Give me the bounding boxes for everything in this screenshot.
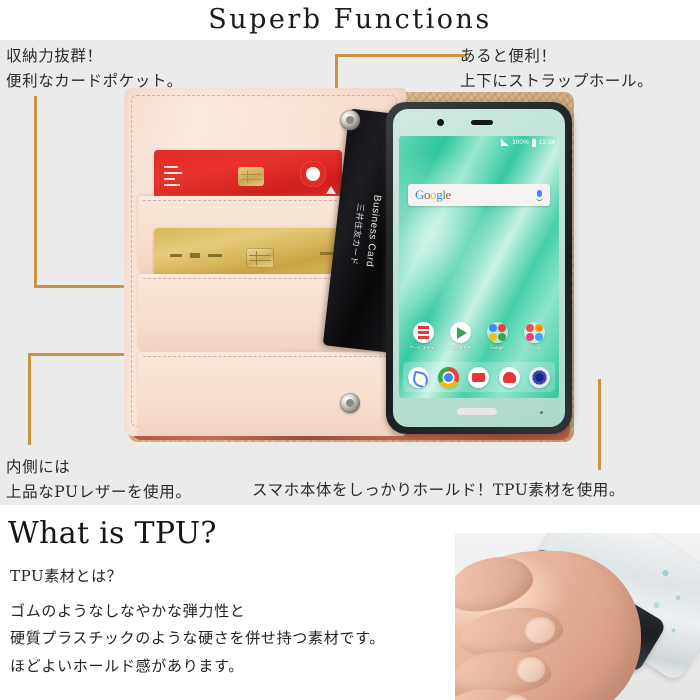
docomo-icon[interactable] xyxy=(413,322,434,343)
google-logo: Google xyxy=(415,187,451,203)
strap-hole-eyelet-top xyxy=(340,110,360,130)
phone-in-case: 100% 12:34 Google サービスチャンネル xyxy=(386,102,572,434)
tools-mini-icon-3 xyxy=(526,333,534,341)
app-tools-folder[interactable]: ツール xyxy=(521,322,549,351)
sensor-dot-icon xyxy=(540,411,543,414)
leader-line-card-pocket-vertical xyxy=(34,96,37,288)
infographic-page: Superb Functions 収納力抜群！ 便利なカードポケット。 あると便… xyxy=(0,0,700,700)
microphone-icon[interactable] xyxy=(536,190,543,201)
wallet-left-leaf: Business Card 三井住友カード xyxy=(124,88,406,436)
leader-line-pu-leather-vertical xyxy=(28,353,31,445)
folder-mini-icon-1 xyxy=(489,324,497,332)
tools-mini-icon-4 xyxy=(535,333,543,341)
app-google-folder[interactable]: Google xyxy=(484,322,512,350)
signal-icon xyxy=(501,139,509,146)
leader-line-tpu-hold-vertical xyxy=(598,379,601,470)
leader-line-strap-hole-horizontal xyxy=(335,54,465,57)
tools-folder-icon[interactable] xyxy=(524,322,545,343)
app-play-store[interactable]: Playストア xyxy=(447,322,475,351)
app-play-store-label: Playストア xyxy=(447,345,475,351)
messages-icon[interactable] xyxy=(468,367,489,388)
card-gold-chip-icon xyxy=(246,248,274,268)
play-store-icon[interactable] xyxy=(450,322,471,343)
folder-mini-icon-3 xyxy=(489,333,497,341)
phone-app-icon[interactable] xyxy=(408,367,429,388)
tools-mini-icon-2 xyxy=(535,324,543,332)
google-search-bar[interactable]: Google xyxy=(408,184,550,206)
app-docomo[interactable]: サービスチャンネル xyxy=(410,322,438,351)
phone-screen: 100% 12:34 Google サービスチャンネル xyxy=(399,136,559,398)
app-google-folder-label: Google xyxy=(484,345,512,350)
product-photo: Business Card 三井住友カード 100% xyxy=(120,88,580,448)
strap-hole-eyelet-bottom xyxy=(340,393,360,413)
card-red-logo-icon xyxy=(300,161,326,187)
google-folder-icon[interactable] xyxy=(487,322,508,343)
tpu-flex-demo-photo xyxy=(455,533,700,700)
clock-label: 12:34 xyxy=(539,139,555,146)
card-red-chip-icon xyxy=(238,167,264,186)
annotation-tpu-hold-line1: スマホ本体をしっかりホールド！TPU素材を使用。 xyxy=(252,478,625,503)
tpu-body-line2: 硬質プラスチックのような硬さを併せ持つ素材です。 xyxy=(10,625,385,652)
phone-bottom-bezel xyxy=(399,401,559,423)
chrome-icon[interactable] xyxy=(438,367,459,388)
annotation-card-pocket: 収納力抜群！ 便利なカードポケット。 xyxy=(6,44,183,94)
tpu-body-line1: ゴムのようなしなやかな弾力性と xyxy=(10,598,385,625)
app-grid-row: サービスチャンネル Playストア xyxy=(405,322,553,351)
folder-mini-icon-2 xyxy=(498,324,506,332)
app-dock xyxy=(403,362,555,392)
folder-mini-icon-4 xyxy=(498,333,506,341)
tpu-subheading: TPU素材とは？ xyxy=(10,565,122,586)
home-button-icon[interactable] xyxy=(457,408,497,415)
front-camera-icon xyxy=(437,119,444,126)
tpu-body-line3: ほどよいホールド感があります。 xyxy=(10,653,385,680)
hand xyxy=(455,551,641,700)
jp-app-icon[interactable] xyxy=(499,367,520,388)
battery-percent-label: 100% xyxy=(512,139,529,146)
tpu-body-text: ゴムのようなしなやかな弾力性と 硬質プラスチックのような硬さを併せ持つ素材です。… xyxy=(10,598,385,680)
credit-card-red xyxy=(154,150,342,202)
card-gold-text-marks xyxy=(170,250,226,264)
annotation-strap-hole-line1: あると便利！ xyxy=(460,44,653,69)
battery-icon xyxy=(532,139,536,147)
status-bar: 100% 12:34 xyxy=(399,136,559,149)
annotation-card-pocket-line1: 収納力抜群！ xyxy=(6,44,183,69)
credit-card-gold xyxy=(154,228,346,280)
card-red-numbers xyxy=(164,164,186,190)
annotation-pu-leather-line1: 内側には xyxy=(6,455,191,480)
earpiece-speaker-icon xyxy=(471,120,493,125)
card-red-arrow-icon xyxy=(326,186,336,194)
page-title: Superb Functions xyxy=(0,4,700,35)
annotation-strap-hole: あると便利！ 上下にストラップホール。 xyxy=(460,44,653,94)
camera-eye-icon[interactable] xyxy=(529,367,550,388)
phone-top-bezel xyxy=(393,109,565,135)
phone-body: 100% 12:34 Google サービスチャンネル xyxy=(393,109,565,427)
tools-mini-icon-1 xyxy=(526,324,534,332)
annotation-tpu-hold: スマホ本体をしっかりホールド！TPU素材を使用。 xyxy=(252,478,625,503)
tpu-heading: What is TPU? xyxy=(8,516,217,551)
annotation-pu-leather-line2: 上品なPUレザーを使用。 xyxy=(6,480,191,505)
annotation-pu-leather: 内側には 上品なPUレザーを使用。 xyxy=(6,455,191,505)
app-docomo-label: サービスチャンネル xyxy=(410,345,438,351)
app-tools-folder-label: ツール xyxy=(521,345,549,351)
